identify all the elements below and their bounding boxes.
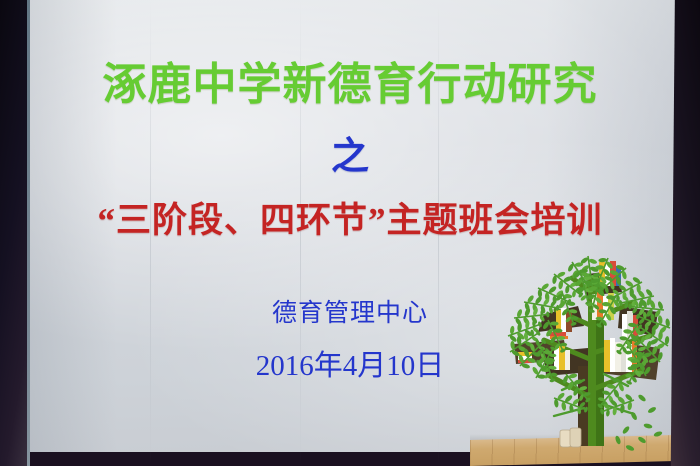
banner-connector-character: 之 <box>0 125 700 180</box>
banner-title-line: 涿鹿中学新德育行动研究 <box>0 48 700 112</box>
boots-icon <box>560 428 581 447</box>
banner-subtitle-line: “三阶段、四环节”主题班会培训 <box>0 192 700 243</box>
banner-date: 2016年4月10日 <box>0 342 700 384</box>
left-wall-band <box>0 0 30 466</box>
banner-organizer: 德育管理中心 <box>0 293 700 329</box>
photo-scene: 涿鹿中学新德育行动研究 之 “三阶段、四环节”主题班会培训 德育管理中心 201… <box>0 0 700 466</box>
